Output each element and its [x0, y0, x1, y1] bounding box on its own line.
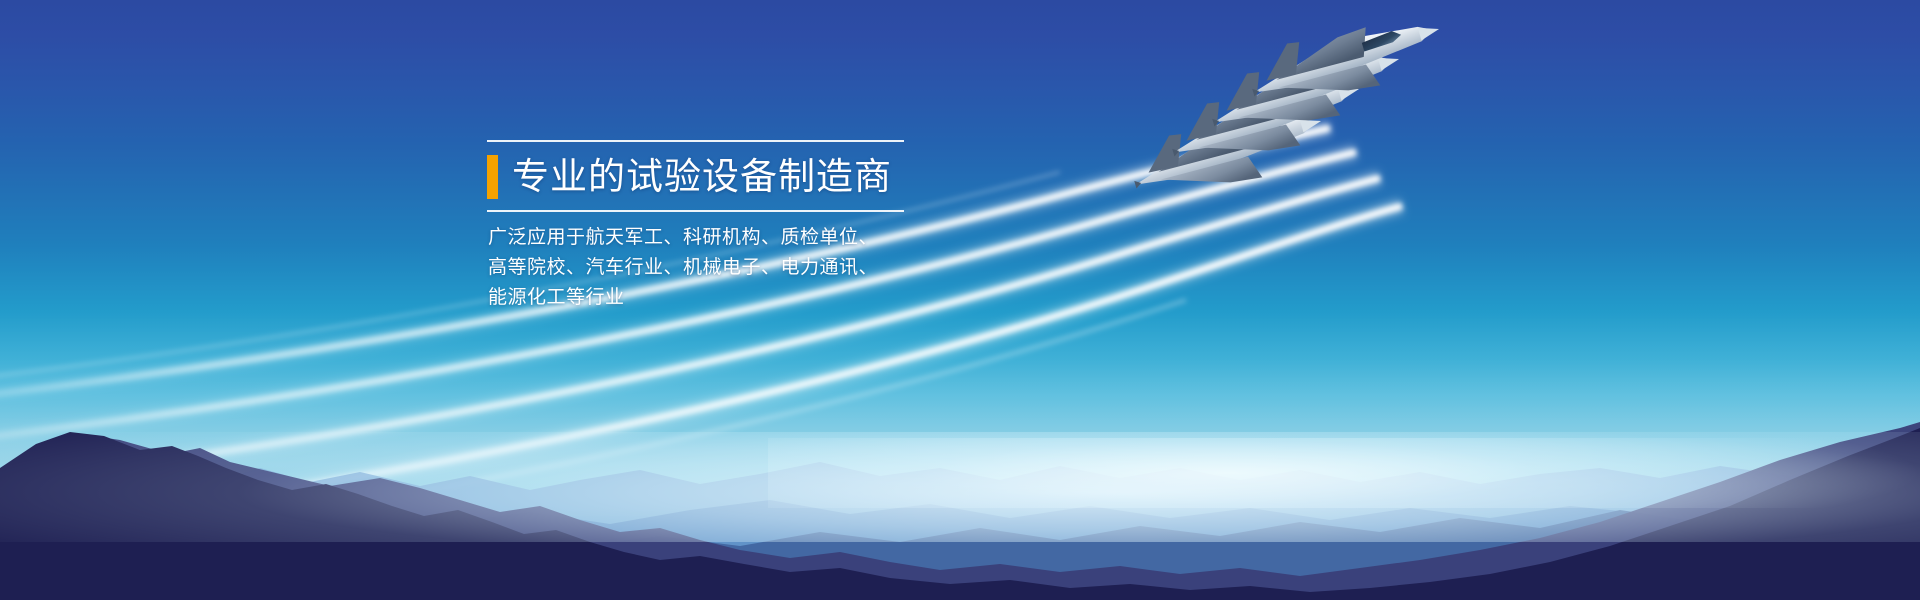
banner-copy: 专业的试验设备制造商 广泛应用于航天军工、科研机构、质检单位、 高等院校、汽车行… [487, 140, 907, 313]
sky-background [0, 0, 1920, 600]
hero-banner: 专业的试验设备制造商 广泛应用于航天军工、科研机构、质检单位、 高等院校、汽车行… [0, 0, 1920, 600]
accent-bar-icon [487, 155, 498, 199]
subtitle-line-3: 能源化工等行业 [488, 283, 907, 313]
page-title: 专业的试验设备制造商 [512, 157, 892, 197]
headline-row: 专业的试验设备制造商 [487, 149, 907, 205]
subtitle-line-2: 高等院校、汽车行业、机械电子、电力通讯、 [488, 253, 907, 283]
rule-bottom [487, 210, 904, 212]
rule-top [487, 140, 904, 142]
subtitle-line-1: 广泛应用于航天军工、科研机构、质检单位、 [488, 223, 907, 253]
banner-subtitle: 广泛应用于航天军工、科研机构、质检单位、 高等院校、汽车行业、机械电子、电力通讯… [488, 223, 907, 313]
